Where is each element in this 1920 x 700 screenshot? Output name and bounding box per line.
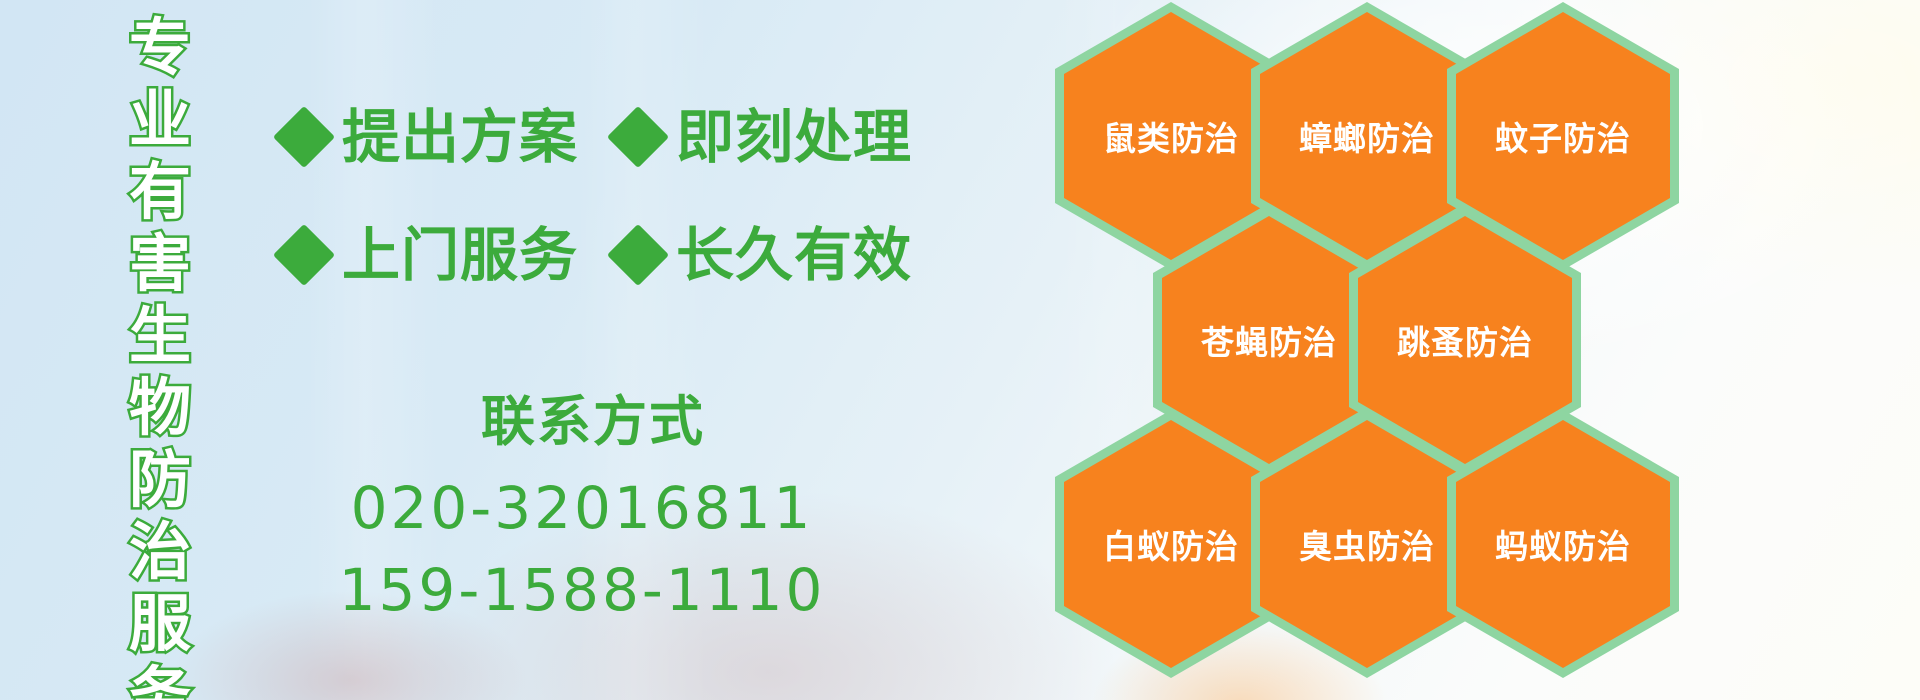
vertical-headline-char-5: 生: [129, 300, 191, 372]
vertical-headline-char-7: 防: [129, 444, 191, 516]
diamond-icon: [607, 224, 669, 286]
vertical-headline-char-6: 物: [129, 372, 191, 444]
service-label: 白蚁防治: [1103, 520, 1239, 568]
feature-item-onsite-service: 上门服务: [282, 226, 578, 284]
feature-label: 长久有效: [676, 226, 912, 284]
diamond-icon: [607, 106, 669, 168]
contact-title: 联系方式: [304, 390, 882, 454]
vertical-headline-char-3: 有: [129, 156, 191, 228]
diamond-icon: [273, 106, 335, 168]
service-hex-grid: 鼠类防治 蟑螂防治 蚊子防治 苍蝇防治 跳蚤防治 白蚁防治 臭虫防治 蚂蚁: [1055, 0, 1755, 700]
contact-block: 联系方式 020-32016811 159-1588-1110: [282, 390, 882, 630]
feature-label: 提出方案: [342, 108, 578, 166]
contact-phone-landline[interactable]: 020-32016811: [282, 468, 882, 548]
feature-label: 即刻处理: [676, 108, 912, 166]
service-label: 苍蝇防治: [1201, 316, 1337, 364]
vertical-headline-char-10: 务: [129, 660, 191, 700]
vertical-headline-char-4: 害: [129, 228, 191, 300]
vertical-headline-char-2: 业: [129, 84, 191, 156]
service-label: 蚂蚁防治: [1495, 520, 1631, 568]
feature-item-long-lasting: 长久有效: [616, 226, 912, 284]
vertical-headline-char-1: 专: [129, 12, 191, 84]
feature-item-immediate-action: 即刻处理: [616, 108, 912, 166]
service-label: 臭虫防治: [1299, 520, 1435, 568]
feature-label: 上门服务: [342, 226, 578, 284]
feature-list: 提出方案 即刻处理 上门服务 长久有效: [282, 78, 872, 314]
feature-item-propose-plan: 提出方案: [282, 108, 578, 166]
service-label: 鼠类防治: [1103, 112, 1239, 160]
contact-phone-mobile[interactable]: 159-1588-1110: [282, 550, 882, 630]
feature-row: 提出方案 即刻处理: [282, 78, 872, 196]
pest-control-banner: 专 业 有 害 生 物 防 治 服 务 提出方案 即刻处理 上门服务: [0, 0, 1920, 700]
feature-row: 上门服务 长久有效: [282, 196, 872, 314]
vertical-headline-char-8: 治: [129, 516, 191, 588]
vertical-headline-char-9: 服: [129, 588, 191, 660]
service-label: 蚊子防治: [1495, 112, 1631, 160]
diamond-icon: [273, 224, 335, 286]
service-label: 跳蚤防治: [1397, 316, 1533, 364]
vertical-headline: 专 业 有 害 生 物 防 治 服 务: [112, 12, 208, 672]
service-label: 蟑螂防治: [1299, 112, 1435, 160]
